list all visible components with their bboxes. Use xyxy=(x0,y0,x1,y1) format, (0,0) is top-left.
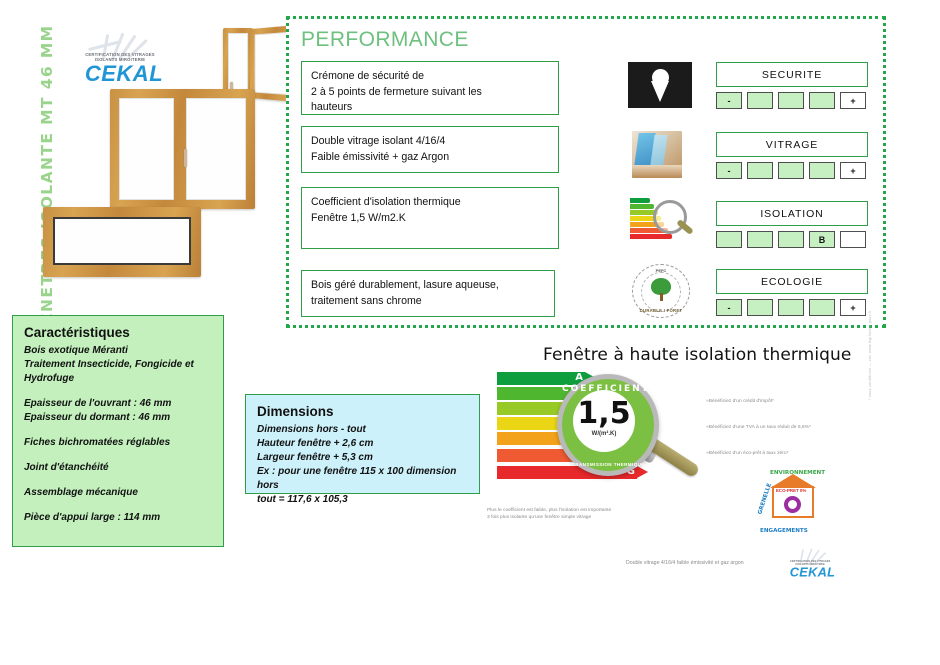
dimensions-line: Hauteur fenêtre + 2,6 cm xyxy=(257,437,468,451)
eco-stamp-icon: PEFC DURABLE I FORET xyxy=(632,264,690,318)
performance-title: PERFORMANCE xyxy=(301,28,469,52)
performance-box-bois: Bois géré durablement, lasure aqueuse, t… xyxy=(301,270,555,317)
rating-cell-minus[interactable]: - xyxy=(716,92,742,109)
benefit-item: »Bénéficiez d'un éco-prêt à taux zéro* xyxy=(706,450,866,457)
promo-vertical-note: * sous conditions — voir www.legifrance.… xyxy=(868,310,872,400)
rating-cell[interactable] xyxy=(716,231,742,248)
energy-magnifier-icon xyxy=(630,198,684,248)
rating-row-securite: SECURITE - + xyxy=(716,62,868,109)
rating-row-isolation: ISOLATION B xyxy=(716,201,868,248)
performance-box-cremone: Crémone de sécurité de 2 à 5 points de f… xyxy=(301,61,559,115)
benefit-item: »Bénéficiez d'un crédit d'impôt* xyxy=(706,398,866,405)
coefficient-note: Plus le coefficient est faible, plus l'i… xyxy=(487,507,717,521)
perf-text-line: hauteurs xyxy=(311,100,549,116)
rating-cell[interactable] xyxy=(747,92,773,109)
coefficient-arc-bottom: DE TRANSMISSION THERMIQUE xyxy=(562,462,646,467)
rating-cell-plus[interactable]: + xyxy=(840,299,866,316)
coefficient-note-line: Plus le coefficient est faible, plus l'i… xyxy=(487,507,717,514)
caracteristiques-line: Epaisseur du dormant : 46 mm xyxy=(24,411,212,425)
promo-title: Fenêtre à haute isolation thermique xyxy=(543,345,873,365)
dimensions-line: Largeur fenêtre + 5,3 cm xyxy=(257,451,468,465)
dimensions-line: Ex : pour une fenêtre 115 x 100 dimensio… xyxy=(257,465,468,493)
rating-cells-vitrage: - + xyxy=(716,162,868,179)
rating-cell[interactable] xyxy=(747,299,773,316)
rating-cell-minus[interactable]: - xyxy=(716,162,742,179)
rating-cell-minus[interactable]: - xyxy=(716,299,742,316)
caracteristiques-line: Hydrofuge xyxy=(24,372,212,386)
caracteristiques-line: Joint d'étanchéité xyxy=(24,461,212,475)
double-casement-window xyxy=(110,89,255,209)
benefit-item: »Bénéficiez d'une TVA à un taux réduit d… xyxy=(706,424,866,431)
coefficient-note-line: 3 fois plus isolante qu'une fenêtre simp… xyxy=(487,514,717,521)
window-product-illustration xyxy=(40,25,290,315)
transom-window xyxy=(43,207,201,277)
rating-cell[interactable] xyxy=(747,162,773,179)
caracteristiques-line: Traitement Insecticide, Fongicide et xyxy=(24,358,212,372)
caracteristiques-line: Pièce d'appui large : 114 mm xyxy=(24,511,212,525)
rating-cell-grade-b[interactable]: B xyxy=(809,231,835,248)
coefficient-value: 1,5 xyxy=(562,399,646,429)
perf-text-line: Double vitrage isolant 4/16/4 xyxy=(311,134,549,150)
dimensions-title: Dimensions xyxy=(257,404,468,419)
rating-cells-isolation: B xyxy=(716,231,868,248)
energy-label-chart: A F G COEFFICIENT 1,5 W/(m².K) DE xyxy=(497,372,672,492)
performance-box-coefficient: Coefficient d'isolation thermique Fenêtr… xyxy=(301,187,559,249)
rating-cell[interactable] xyxy=(809,299,835,316)
rating-cell[interactable] xyxy=(778,231,804,248)
perf-text-line: Fenêtre 1,5 W/m2.K xyxy=(311,211,549,227)
rating-cell[interactable] xyxy=(809,162,835,179)
rating-row-vitrage: VITRAGE - + xyxy=(716,132,868,179)
rating-cells-ecologie: - + xyxy=(716,299,868,316)
performance-box-vitrage: Double vitrage isolant 4/16/4 Faible émi… xyxy=(301,126,559,173)
caracteristiques-line: Epaisseur de l'ouvrant : 46 mm xyxy=(24,397,212,411)
perf-text-line: Coefficient d'isolation thermique xyxy=(311,195,549,211)
rating-cell[interactable] xyxy=(778,299,804,316)
rating-label-securite: SECURITE xyxy=(716,62,868,87)
rating-row-ecologie: ECOLOGIE - + xyxy=(716,269,868,316)
caracteristiques-line: Assemblage mécanique xyxy=(24,486,212,500)
cekal-logo-footer: CERTIFICATION DES VITRAGES ISOLANTS MIRO… xyxy=(780,548,845,579)
rating-cell-plus[interactable]: + xyxy=(840,92,866,109)
dimensions-line: Dimensions hors - tout xyxy=(257,423,468,437)
perf-text-line: Bois géré durablement, lasure aqueuse, xyxy=(311,278,545,294)
glazing-photo-icon xyxy=(632,131,682,178)
keyhole-icon xyxy=(628,62,692,108)
rating-cell-plus[interactable]: + xyxy=(840,162,866,179)
perf-text-line: Crémone de sécurité de xyxy=(311,69,549,85)
rating-cell[interactable] xyxy=(778,162,804,179)
caracteristiques-card: Caractéristiques Bois exotique Méranti T… xyxy=(12,315,224,547)
rating-label-ecologie: ECOLOGIE xyxy=(716,269,868,294)
rating-cells-securite: - + xyxy=(716,92,868,109)
coefficient-magnifier: COEFFICIENT 1,5 W/(m².K) DE TRANSMISSION… xyxy=(557,374,659,476)
dimensions-line: tout = 117,6 x 105,3 xyxy=(257,493,468,507)
perf-text-line: 2 à 5 points de fermeture suivant les xyxy=(311,85,549,101)
rating-label-vitrage: VITRAGE xyxy=(716,132,868,157)
grenelle-word-bottom: ENGAGEMENTS xyxy=(760,528,808,534)
perf-text-line: Faible émissivité + gaz Argon xyxy=(311,150,549,166)
perf-text-line: traitement sans chrome xyxy=(311,294,545,310)
rating-cell[interactable] xyxy=(747,231,773,248)
grenelle-badge: ECO-PRET 0% xyxy=(776,488,806,493)
cekal-wordmark: CEKAL xyxy=(780,565,845,580)
promo-benefits-list: »Bénéficiez d'un crédit d'impôt* »Bénéfi… xyxy=(706,398,866,476)
rating-label-isolation: ISOLATION xyxy=(716,201,868,226)
caracteristiques-title: Caractéristiques xyxy=(24,325,212,340)
caracteristiques-line: Fiches bichromatées réglables xyxy=(24,436,212,450)
dimensions-card: Dimensions Dimensions hors - tout Hauteu… xyxy=(245,394,480,494)
double-window-handle xyxy=(184,149,187,167)
grenelle-environnement-logo: GRENELLE ENVIRONNEMENT ENGAGEMENTS ECO-P… xyxy=(748,470,840,542)
coefficient-unit: W/(m².K) xyxy=(562,431,646,437)
promo-caption: Double vitrage 4/16/4 faible émissivité … xyxy=(626,560,744,566)
poster-page: FENETRES ISOLANTE MT 46 MM CERTIFICATION… xyxy=(0,0,940,665)
rating-cell[interactable] xyxy=(778,92,804,109)
rating-cell[interactable] xyxy=(840,231,866,248)
rating-cell[interactable] xyxy=(809,92,835,109)
caracteristiques-line: Bois exotique Méranti xyxy=(24,344,212,358)
